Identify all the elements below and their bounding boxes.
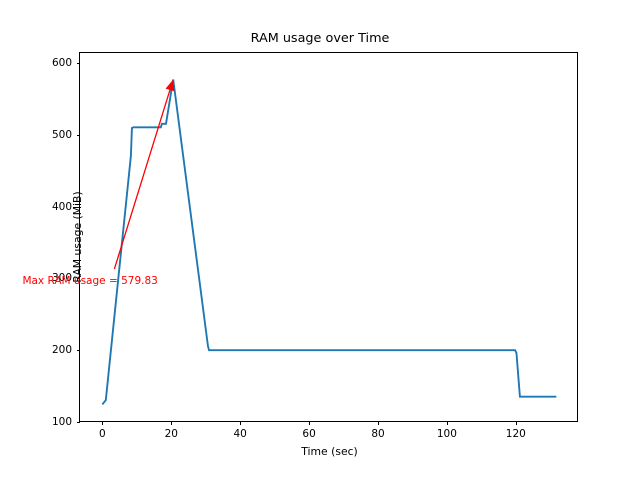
x-tick-mark-100 [447,421,448,425]
x-tick-mark-120 [516,421,517,425]
y-tick-label-100: 100 [42,416,72,428]
y-tick-mark-100 [77,422,81,423]
figure-canvas: RAM usage over Time 600 500 400 300 200 … [0,0,640,480]
x-tick-label-60: 60 [302,428,315,440]
plot-axes: 600 500 400 300 200 100 0 20 40 60 80 10… [79,52,578,422]
annotation-arrow [114,87,170,269]
x-tick-label-40: 40 [234,428,247,440]
annotation-arrow-head [166,80,175,92]
x-tick-mark-20 [171,421,172,425]
x-tick-mark-0 [102,421,103,425]
x-axis-label: Time (sec) [80,445,579,458]
y-tick-label-600: 600 [42,57,72,69]
y-tick-label-200: 200 [42,344,72,356]
data-plot-surface [80,53,577,421]
max-ram-annotation-label: Max RAM usage = 579.83 [22,275,157,287]
x-tick-label-120: 120 [506,428,526,440]
x-tick-label-20: 20 [165,428,178,440]
x-tick-label-80: 80 [371,428,384,440]
chart-title: RAM usage over Time [0,31,640,46]
x-tick-mark-40 [240,421,241,425]
y-tick-label-500: 500 [42,129,72,141]
x-tick-label-0: 0 [99,428,106,440]
ram-usage-line [102,80,556,405]
x-tick-label-100: 100 [437,428,457,440]
x-tick-mark-80 [378,421,379,425]
y-tick-label-400: 400 [42,201,72,213]
x-tick-mark-60 [309,421,310,425]
y-axis-label: RAM usage (MiB) [71,191,84,282]
